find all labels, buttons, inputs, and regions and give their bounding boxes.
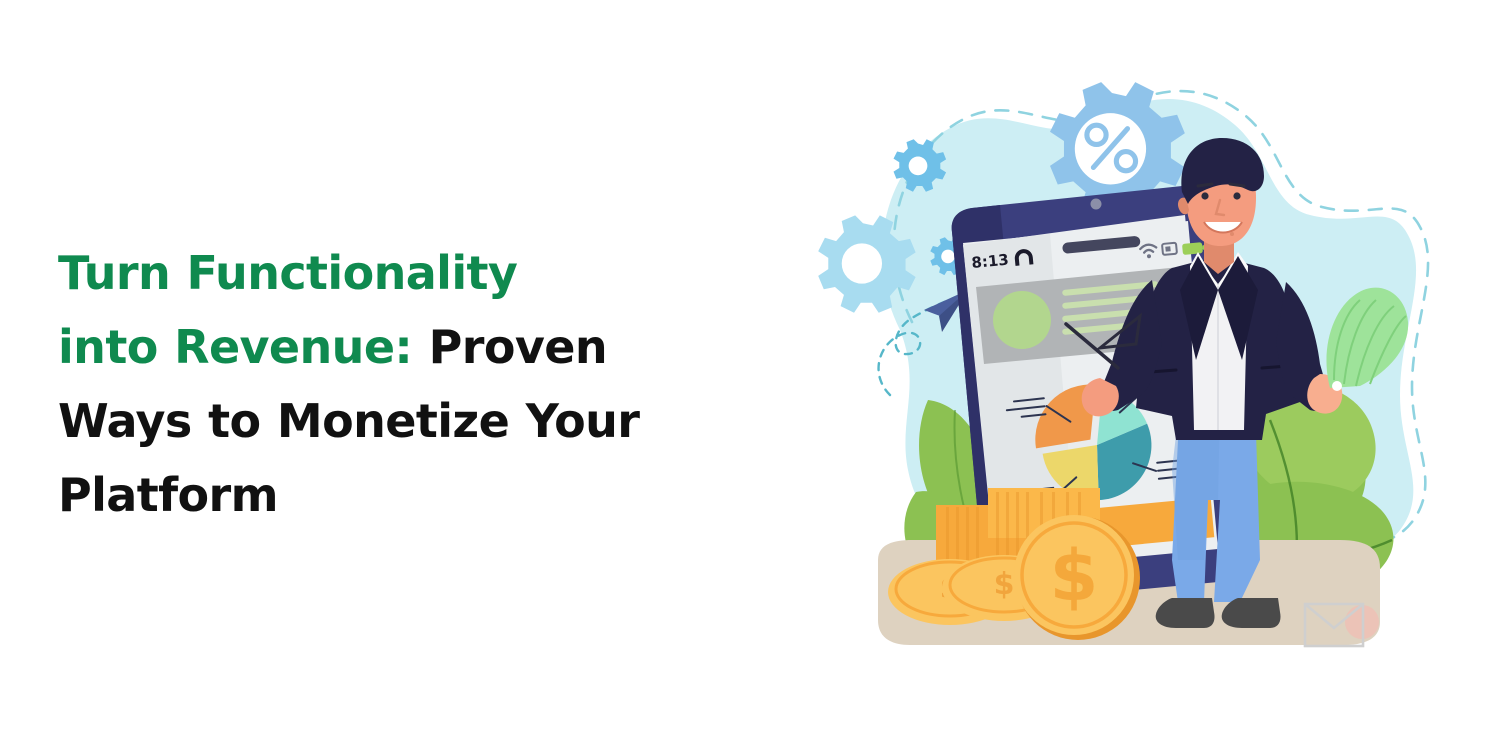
card-circle-chart (993, 291, 1051, 349)
headline-accent-line1: Turn Functionality (58, 246, 517, 300)
svg-text:$: $ (1050, 535, 1099, 617)
headline-plain-line4: Platform (58, 468, 278, 522)
hero-banner: Turn Functionalityinto Revenue: ProvenWa… (0, 0, 1500, 750)
headline-plain-line2: Proven (429, 320, 607, 374)
shoe-right (1222, 598, 1281, 628)
headline-accent-line2: into Revenue: (58, 320, 412, 374)
camera-icon (1091, 199, 1102, 210)
page-title: Turn Functionalityinto Revenue: ProvenWa… (58, 236, 758, 532)
shoe-left (1156, 598, 1215, 628)
monetization-hero-illustration: 8:13 (800, 0, 1500, 750)
status-time: 8:13 (971, 251, 1010, 272)
headline-block: Turn Functionalityinto Revenue: ProvenWa… (58, 236, 758, 532)
headline-plain-line3: Ways to Monetize Your (58, 394, 639, 448)
svg-text:$: $ (994, 567, 1015, 602)
